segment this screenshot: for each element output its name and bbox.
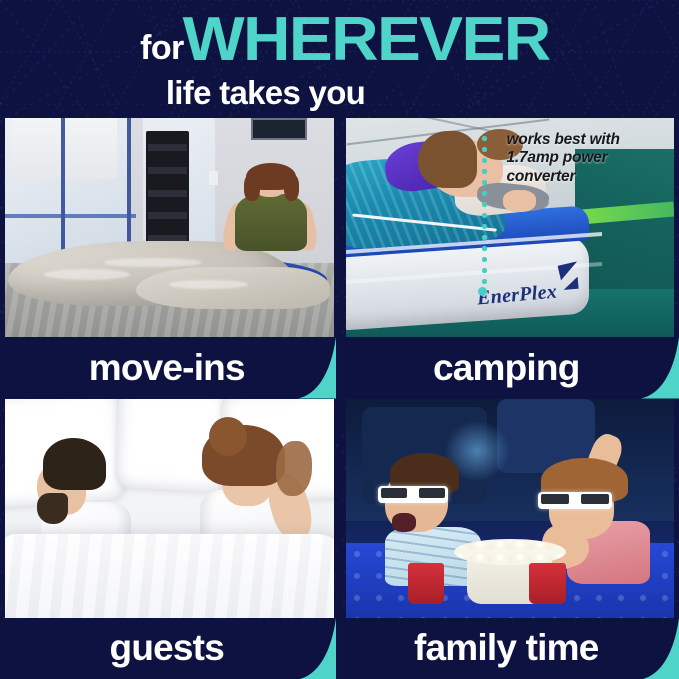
grid-vertical-divider — [338, 118, 342, 679]
panel-camping[interactable]: EnerPlex works best with 1.7amp power co… — [340, 118, 679, 399]
teal-accent-wing — [298, 618, 336, 679]
label-camping: camping — [433, 347, 580, 389]
callout-line-3: converter — [506, 168, 670, 186]
shelf-unit-decor — [146, 131, 189, 258]
red-cup-decor — [408, 563, 444, 605]
photo-family-time — [346, 399, 675, 618]
label-move-ins: move-ins — [89, 347, 245, 389]
label-family-time: family time — [414, 627, 599, 669]
panel-move-ins[interactable]: move-ins — [0, 118, 340, 399]
dotted-pointer-endpoint — [478, 287, 487, 296]
caption-guests: guests — [0, 618, 340, 679]
dotted-pointer-line — [482, 133, 487, 291]
enerplex-arrow-mark-lower-icon — [563, 277, 579, 290]
photo-guests — [5, 399, 334, 618]
person-move-ins — [232, 166, 311, 258]
photo-move-ins — [5, 118, 334, 337]
caption-camping: camping — [340, 337, 679, 399]
callout-line-2: 1.7amp power — [506, 149, 670, 167]
headline-line-2: life takes you — [0, 76, 679, 109]
caption-move-ins: move-ins — [0, 337, 340, 399]
teal-accent-wing — [641, 618, 679, 679]
photo-camping: EnerPlex works best with 1.7amp power co… — [346, 118, 675, 337]
callout-line-1: works best with — [506, 131, 670, 149]
headline-line-1: forWHEREVER — [0, 9, 679, 71]
caption-family-time: family time — [340, 618, 679, 679]
teal-accent-wing — [641, 337, 679, 399]
panel-family-time[interactable]: family time — [340, 399, 679, 679]
white-3d-glasses-icon — [378, 486, 447, 504]
label-guests: guests — [110, 627, 224, 669]
teal-accent-wing — [298, 337, 336, 399]
headline-prefix: for — [140, 31, 184, 65]
white-3d-glasses-icon — [538, 492, 612, 509]
wall-picture-decor — [251, 118, 307, 140]
header: forWHEREVER life takes you — [0, 0, 679, 118]
headline-wherever: WHEREVER — [182, 9, 549, 71]
panel-guests[interactable]: guests — [0, 399, 340, 679]
poster-root: forWHEREVER life takes you — [0, 0, 679, 679]
callout-power-converter: works best with 1.7amp power converter — [506, 131, 670, 186]
red-cup-decor — [529, 563, 565, 605]
